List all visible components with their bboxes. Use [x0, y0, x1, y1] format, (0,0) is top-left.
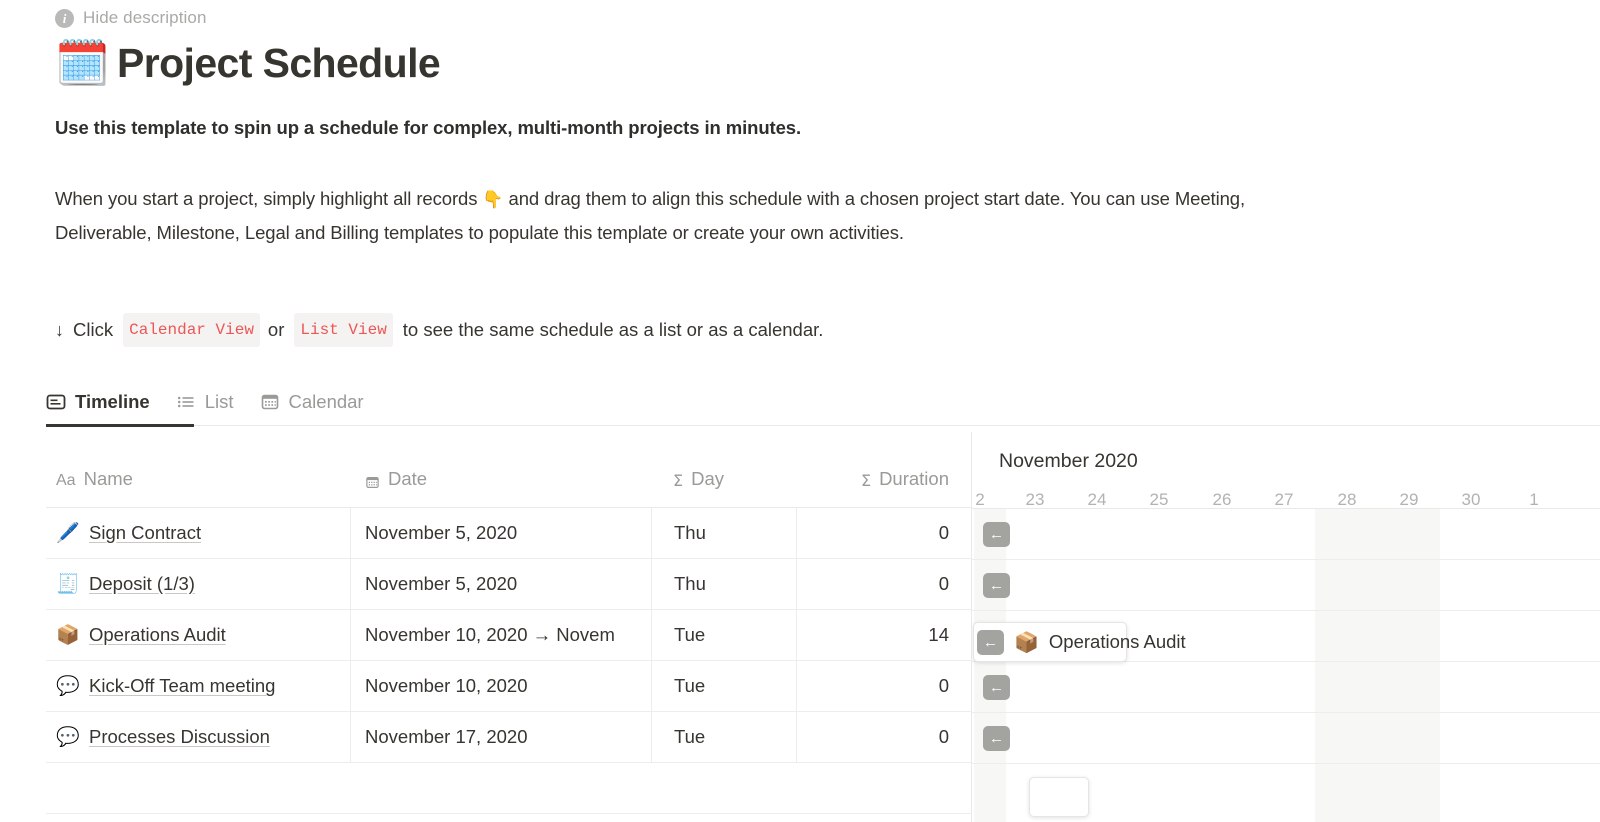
- speech-balloon-icon: 💬: [56, 725, 78, 749]
- cell-date[interactable]: November 5, 2020: [351, 508, 651, 558]
- tabs-divider: [46, 425, 1600, 426]
- cell-day: Tue: [651, 712, 796, 762]
- date-tick: 27: [1275, 490, 1294, 510]
- date-tick: 1: [1529, 490, 1538, 510]
- cell-name[interactable]: 💬 Kick-Off Team meeting: [46, 661, 351, 711]
- timeline-panel: November 2020 2 23 24 25 26 27 28 29 30 …: [971, 432, 1600, 822]
- timeline-row-divider: [972, 559, 1600, 560]
- date-tick: 28: [1338, 490, 1357, 510]
- info-icon: i: [55, 9, 74, 28]
- tab-calendar[interactable]: Calendar: [260, 381, 364, 423]
- table-row[interactable]: 📦 Operations Audit November 10, 2020 → N…: [46, 610, 971, 661]
- pen-icon: 🖊️: [56, 521, 78, 545]
- timeline-icon: [46, 392, 66, 412]
- cell-name[interactable]: 🧾 Deposit (1/3): [46, 559, 351, 609]
- paragraph-part-1: When you start a project, simply highlig…: [55, 188, 482, 209]
- timeline-month-label: November 2020: [999, 450, 1138, 473]
- scroll-left-button[interactable]: ←: [983, 573, 1010, 598]
- scroll-left-button[interactable]: ←: [983, 675, 1010, 700]
- record-link[interactable]: Kick-Off Team meeting: [89, 675, 275, 697]
- column-header-day[interactable]: Σ Day: [651, 432, 796, 507]
- aa-icon: Aa: [56, 472, 76, 490]
- calendar-icon: [260, 392, 280, 412]
- record-link[interactable]: Processes Discussion: [89, 726, 270, 748]
- cell-day: Thu: [651, 508, 796, 558]
- column-header-date-label: Date: [388, 468, 427, 490]
- or-word: or: [268, 316, 284, 344]
- cell-duration: 0: [796, 712, 971, 762]
- date-tick: 29: [1400, 490, 1419, 510]
- hide-description-label: Hide description: [83, 8, 207, 28]
- weekend-band: [974, 509, 1006, 822]
- code-calendar-view: Calendar View: [123, 313, 260, 347]
- package-icon: 📦: [56, 623, 78, 647]
- date-tick: 30: [1462, 490, 1481, 510]
- cell-date[interactable]: November 5, 2020: [351, 559, 651, 609]
- column-header-day-label: Day: [691, 468, 724, 490]
- tab-list-label: List: [205, 391, 234, 413]
- table-header-row: Aa Name: [46, 432, 971, 508]
- calendar-icon: [365, 475, 380, 490]
- date-tick: 26: [1213, 490, 1232, 510]
- page-title-text: Project Schedule: [117, 40, 440, 87]
- click-hint-line: ↓ Click Calendar View or List View to se…: [55, 313, 823, 347]
- date-tick: 23: [1026, 490, 1045, 510]
- column-header-date[interactable]: Date: [351, 432, 651, 507]
- sigma-icon: Σ: [861, 471, 871, 490]
- cell-day: Thu: [651, 559, 796, 609]
- cell-day: Tue: [651, 610, 796, 660]
- timeline-bar-label: Operations Audit: [1049, 631, 1186, 653]
- speech-balloon-icon: 💬: [56, 674, 78, 698]
- scroll-left-button[interactable]: ←: [977, 630, 1004, 655]
- timeline-bar-partial[interactable]: [1029, 777, 1089, 817]
- active-tab-underline: [46, 424, 194, 427]
- table-row[interactable]: 💬 Kick-Off Team meeting November 10, 202…: [46, 661, 971, 712]
- cell-duration: 0: [796, 508, 971, 558]
- sigma-icon: Σ: [673, 471, 683, 490]
- table-row[interactable]: 🧾 Deposit (1/3) November 5, 2020 Thu 0: [46, 559, 971, 610]
- tab-timeline-label: Timeline: [75, 391, 150, 413]
- timeline-row-divider: [972, 712, 1600, 713]
- list-icon: [176, 392, 196, 412]
- cell-name[interactable]: 🖊️ Sign Contract: [46, 508, 351, 558]
- weekend-band: [1315, 509, 1440, 822]
- cell-day: Tue: [651, 661, 796, 711]
- cell-duration: 0: [796, 559, 971, 609]
- cell-duration: 0: [796, 661, 971, 711]
- table-row[interactable]: 💬 Processes Discussion November 17, 2020…: [46, 712, 971, 763]
- lead-paragraph: Use this template to spin up a schedule …: [55, 117, 801, 139]
- cell-duration: 14: [796, 610, 971, 660]
- timeline-row-divider: [972, 610, 1600, 611]
- date-tick: 25: [1150, 490, 1169, 510]
- tab-timeline[interactable]: Timeline: [46, 381, 150, 423]
- arrow-down-icon: ↓: [55, 316, 64, 344]
- calendar-pad-icon: 🗓️: [55, 42, 103, 86]
- cell-name[interactable]: 📦 Operations Audit: [46, 610, 351, 660]
- column-header-duration-label: Duration: [879, 468, 949, 490]
- package-icon: 📦: [1014, 630, 1039, 655]
- description-paragraph: When you start a project, simply highlig…: [55, 182, 1265, 249]
- page-title: 🗓️ Project Schedule: [55, 40, 440, 87]
- tab-list[interactable]: List: [176, 381, 234, 423]
- table-row[interactable]: 🖊️ Sign Contract November 5, 2020 Thu 0: [46, 508, 971, 559]
- code-list-view: List View: [294, 313, 392, 347]
- table-row[interactable]: [46, 763, 971, 814]
- records-table: Aa Name: [46, 432, 971, 814]
- scroll-left-button[interactable]: ←: [983, 522, 1010, 547]
- tab-calendar-label: Calendar: [289, 391, 364, 413]
- timeline-row-divider: [972, 763, 1600, 764]
- notion-page: i Hide description 🗓️ Project Schedule U…: [0, 0, 1600, 822]
- cell-name[interactable]: 💬 Processes Discussion: [46, 712, 351, 762]
- record-link[interactable]: Deposit (1/3): [89, 573, 195, 595]
- receipt-icon: 🧾: [56, 572, 78, 596]
- column-header-duration[interactable]: Σ Duration: [796, 432, 971, 507]
- click-word: Click: [73, 316, 113, 344]
- cell-date[interactable]: November 10, 2020: [351, 661, 651, 711]
- cell-date[interactable]: November 10, 2020 → Novem: [351, 610, 651, 660]
- column-header-name-label: Name: [84, 468, 133, 490]
- column-header-name[interactable]: Aa Name: [46, 432, 351, 507]
- scroll-left-button[interactable]: ←: [983, 726, 1010, 751]
- timeline-view: Aa Name: [0, 432, 1600, 822]
- timeline-date-ruler: 2 23 24 25 26 27 28 29 30 1: [972, 490, 1600, 508]
- pointing-down-icon: 👇: [482, 190, 503, 209]
- cell-date[interactable]: November 17, 2020: [351, 712, 651, 762]
- view-tabs: Timeline List: [46, 381, 364, 423]
- timeline-bar-operations-audit[interactable]: ← 📦 Operations Audit: [973, 622, 1127, 662]
- click-hint-tail: to see the same schedule as a list or as…: [403, 316, 824, 344]
- date-tick: 2: [975, 490, 984, 510]
- date-tick: 24: [1088, 490, 1107, 510]
- record-link[interactable]: Operations Audit: [89, 624, 226, 646]
- record-link[interactable]: Sign Contract: [89, 522, 201, 544]
- hide-description-toggle[interactable]: i Hide description: [55, 5, 207, 31]
- timeline-body: ← ← ← 📦 Operations Audit ← ←: [972, 509, 1600, 822]
